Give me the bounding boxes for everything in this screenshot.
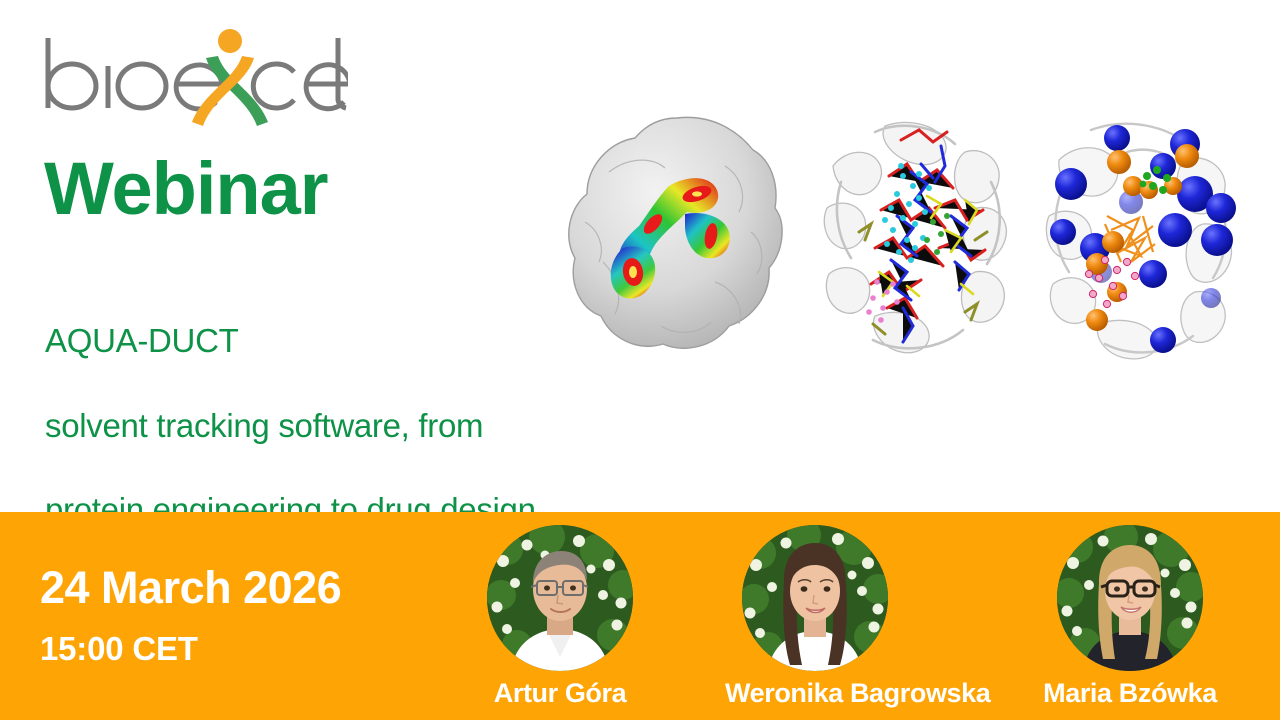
subtitle-line-2: solvent tracking software, from <box>45 405 536 447</box>
logo-wordmark-left <box>48 38 222 109</box>
event-time: 15:00 CET <box>40 632 198 665</box>
bioexcel-logo <box>38 22 348 132</box>
logo-wordmark-right <box>253 64 348 109</box>
speaker-list: Artur Góra <box>470 525 1280 720</box>
speaker-name: Artur Góra <box>470 680 650 707</box>
event-date: 24 March 2026 <box>40 565 341 610</box>
page-title: Webinar <box>44 152 328 226</box>
avatar <box>1057 525 1203 671</box>
speaker-artur-gora: Artur Góra <box>470 525 650 707</box>
avatar <box>742 525 888 671</box>
speaker-name: Weronika Bagrowska <box>725 680 905 707</box>
speaker-weronika-bagrowska: Weronika Bagrowska <box>725 525 905 707</box>
speaker-name: Maria Bzówka <box>1040 680 1220 707</box>
speaker-maria-bzowka: Maria Bzówka <box>1040 525 1220 707</box>
subtitle-line-1: AQUA-DUCT <box>45 320 536 362</box>
protein-figure-group <box>565 112 1265 377</box>
protein-surface-tunnel-density <box>565 112 795 362</box>
webinar-poster: Webinar AQUA-DUCT solvent tracking softw… <box>0 0 1280 720</box>
protein-cartoon-hotspot-spheres <box>1035 112 1255 362</box>
protein-cartoon-water-paths <box>815 112 1025 362</box>
avatar <box>487 525 633 671</box>
